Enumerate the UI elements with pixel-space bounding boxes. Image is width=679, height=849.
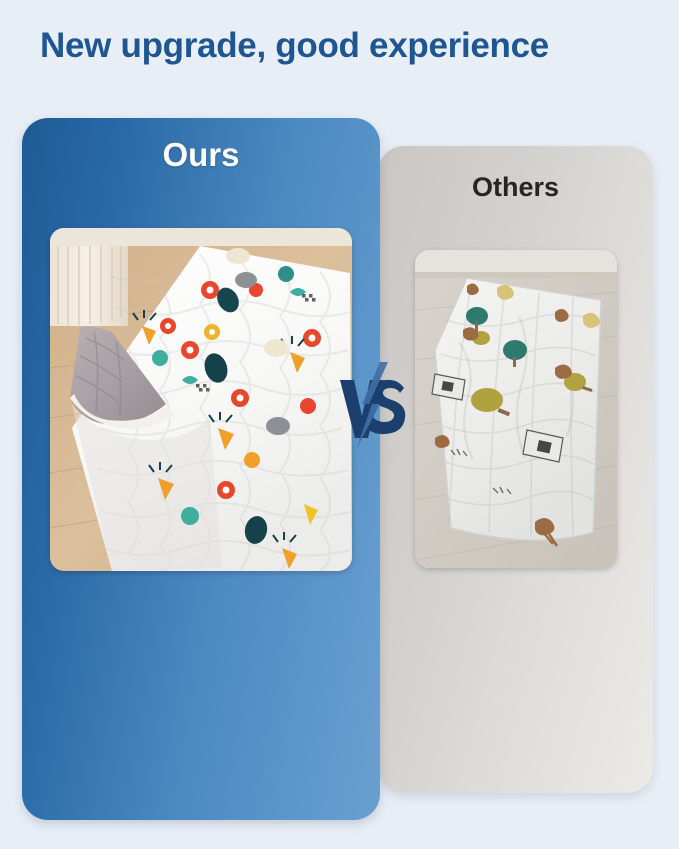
others-heading: Others — [378, 172, 653, 203]
others-product-photo — [415, 250, 617, 568]
versus-badge — [336, 358, 410, 454]
ours-product-photo — [50, 228, 352, 571]
page-title: New upgrade, good experience — [40, 26, 549, 66]
ours-heading: Ours — [22, 136, 380, 174]
